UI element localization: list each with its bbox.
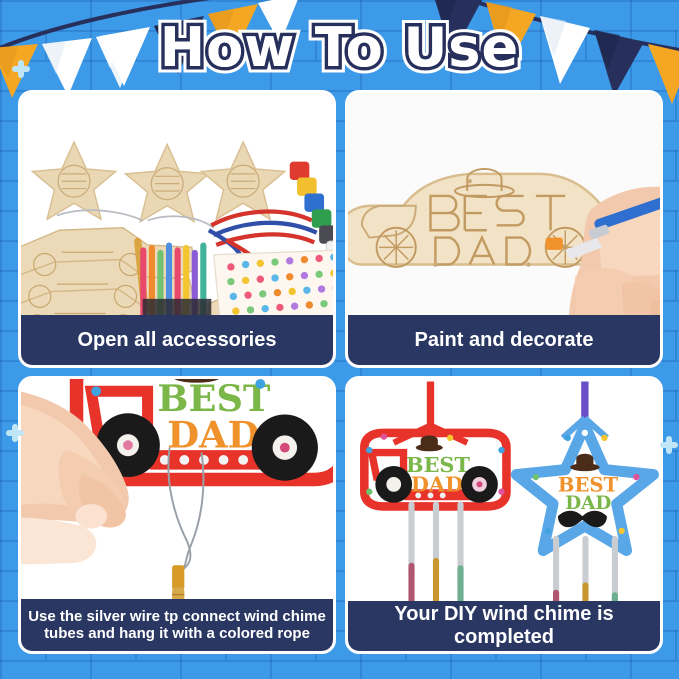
step-3-caption: Use the silver wire tp connect wind chim…: [21, 599, 333, 651]
step-panel-3: BEST DAD: [18, 376, 336, 654]
step-panel-4: BEST DAD: [345, 376, 663, 654]
paint-dab: [546, 238, 563, 250]
page-title: How To Use: [0, 16, 679, 79]
plus-decor-left-mid: [6, 424, 24, 442]
step-4-caption: Your DIY wind chime is completed: [348, 601, 660, 651]
step-panel-1: Open all accessories: [18, 90, 336, 368]
step-panel-2: Paint and decorate: [345, 90, 663, 368]
svg-text:DAD: DAD: [565, 493, 611, 514]
how-to-use-infographic: How To Use How To Use: [0, 0, 679, 679]
step-2-caption: Paint and decorate: [348, 315, 660, 365]
step-1-caption: Open all accessories: [21, 315, 333, 365]
plus-decor-right-mid: [660, 436, 678, 454]
svg-text:DAD: DAD: [167, 413, 259, 457]
